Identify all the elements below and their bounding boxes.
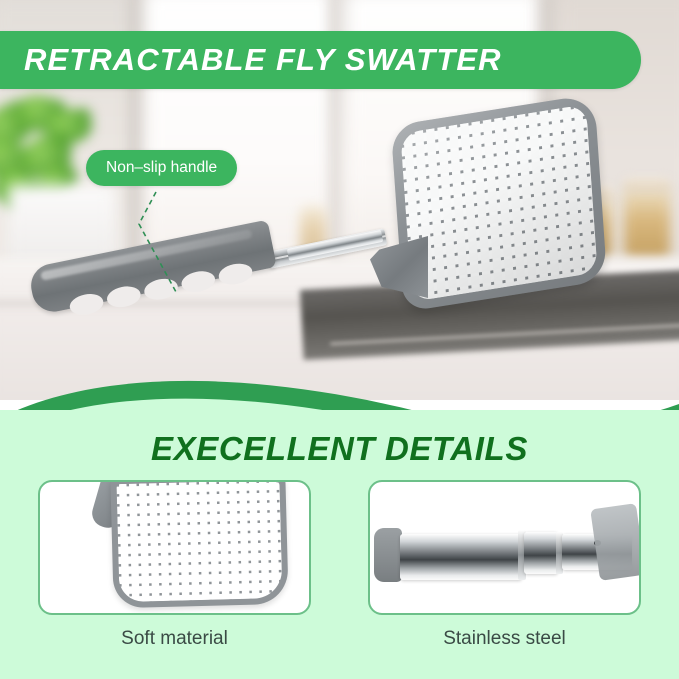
header-banner: RETRACTABLE FLY SWATTER (0, 31, 641, 89)
hero-photo-section: Non–slip handle RETRACTABLE FLY SWATTER (0, 0, 679, 400)
detail-captions: Soft material Stainless steel (38, 628, 641, 650)
caption-stainless-steel: Stainless steel (368, 628, 641, 650)
callout-label: Non–slip handle (106, 159, 217, 176)
closeup-mesh-grid (116, 480, 282, 602)
closeup-mesh-head (110, 480, 288, 608)
caption-soft-material: Soft material (38, 628, 311, 650)
detail-panel-soft-material[interactable] (38, 480, 311, 615)
callout-non-slip-handle: Non–slip handle (86, 150, 237, 186)
detail-panels (38, 480, 641, 615)
closeup-rod-tip (590, 503, 641, 581)
swatter-handle (27, 220, 277, 316)
details-section: EXECELLENT DETAILS Soft material (0, 410, 679, 679)
details-title: EXECELLENT DETAILS (0, 430, 679, 468)
closeup-rod-segment-1 (400, 534, 522, 580)
page-title: RETRACTABLE FLY SWATTER (0, 42, 502, 78)
detail-panel-stainless-steel[interactable] (368, 480, 641, 615)
closeup-rod-segment-2 (524, 532, 558, 574)
closeup-grip-end (374, 528, 402, 582)
product-infographic: Non–slip handle RETRACTABLE FLY SWATTER … (0, 0, 679, 679)
